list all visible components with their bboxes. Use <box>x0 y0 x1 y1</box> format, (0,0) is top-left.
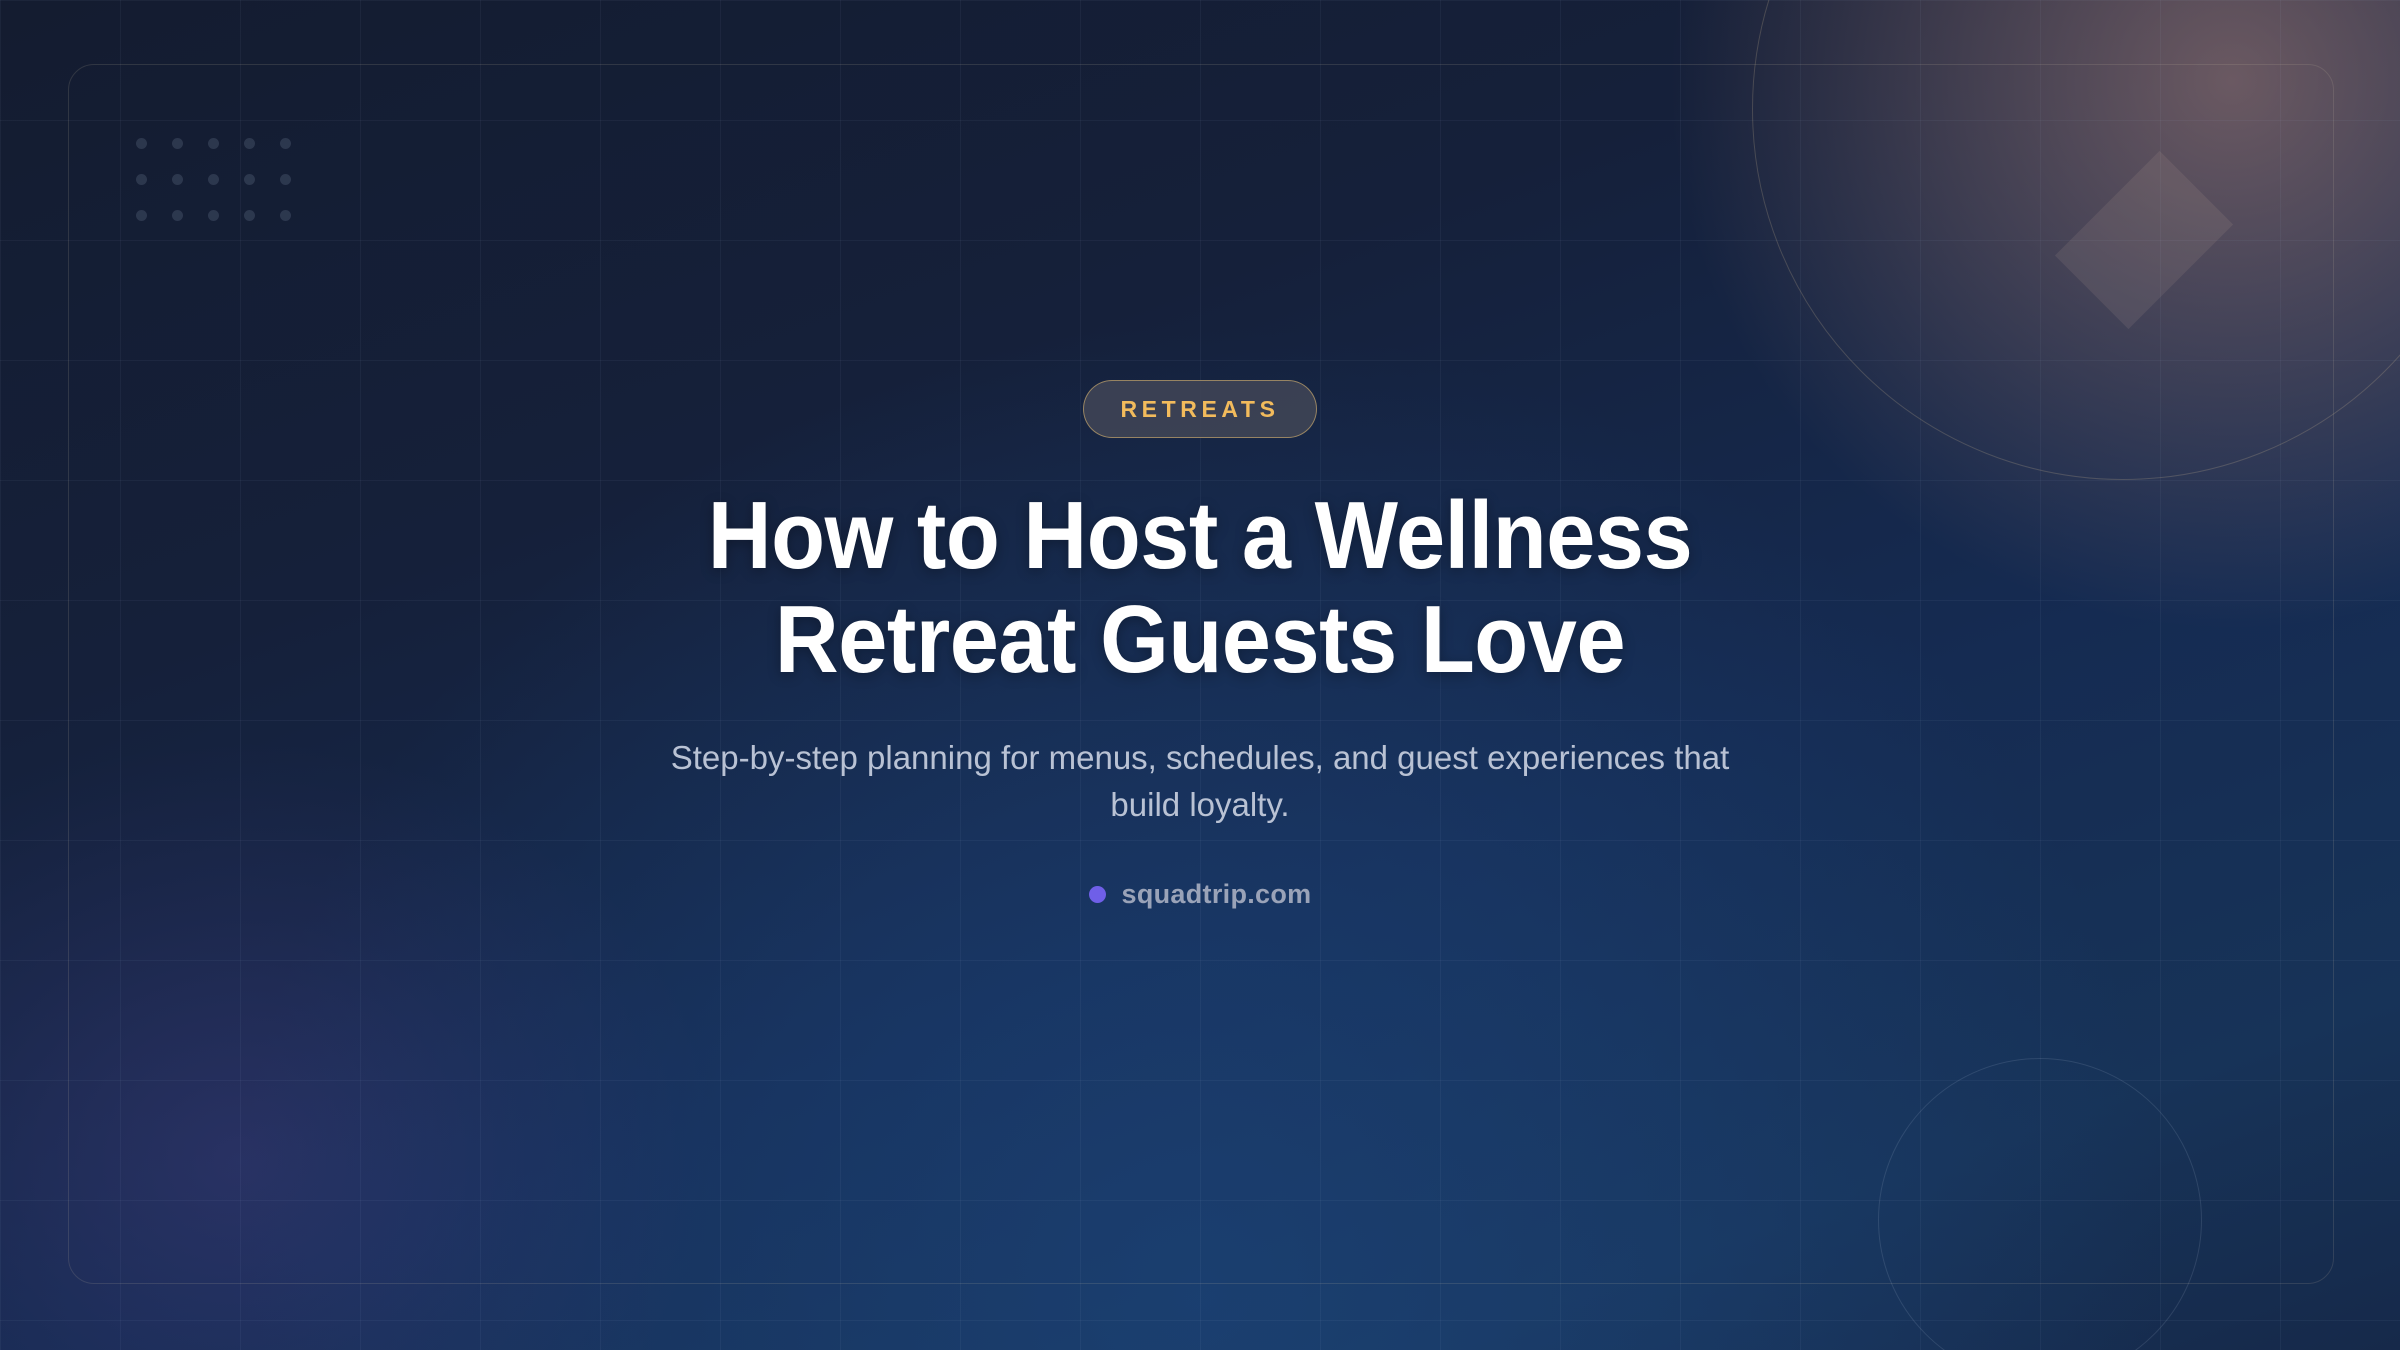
bullet-dot-icon <box>1089 886 1106 903</box>
page-title: How to Host a Wellness Retreat Guests Lo… <box>593 438 1807 691</box>
page-subtitle: Step-by-step planning for menus, schedul… <box>640 691 1760 829</box>
decorative-circle-bottom-right-icon <box>1878 1058 2202 1350</box>
attribution-domain: squadtrip.com <box>1122 879 1312 910</box>
slide-content: RETREATS How to Host a Wellness Retreat … <box>0 0 2400 910</box>
category-badge: RETREATS <box>1083 380 1316 438</box>
slide-canvas: RETREATS How to Host a Wellness Retreat … <box>0 0 2400 1350</box>
attribution: squadtrip.com <box>1089 879 1312 910</box>
